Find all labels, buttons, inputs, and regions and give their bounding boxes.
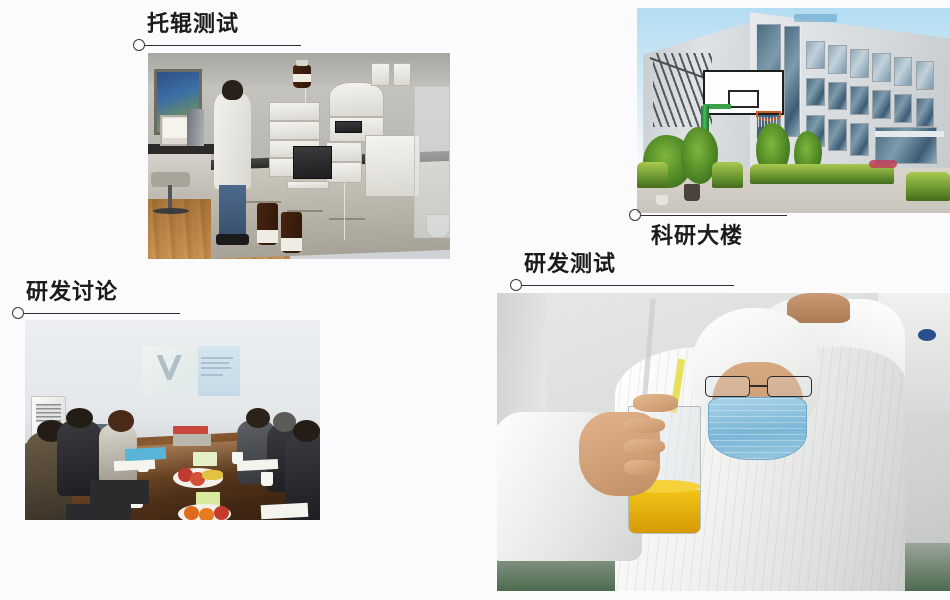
autosampler-unit <box>329 82 383 117</box>
window-bay <box>872 53 891 82</box>
window-bay <box>894 94 913 123</box>
paper-cup <box>261 472 273 486</box>
rule-line <box>641 215 787 216</box>
caption-research-building: 科研大楼 <box>629 208 787 250</box>
window-bay <box>850 86 869 115</box>
window-bay <box>828 82 847 111</box>
equipment-indicator <box>918 329 936 341</box>
mask-pleats <box>709 398 807 459</box>
finger <box>624 460 660 475</box>
instrument-screen <box>335 121 362 133</box>
beaker-liquid <box>629 490 699 533</box>
glasses-lens-right <box>767 376 812 397</box>
slide-text-line <box>201 357 232 359</box>
circle-marker-icon <box>510 279 522 291</box>
planter-pot <box>684 184 700 200</box>
projection-logo <box>157 355 182 380</box>
fruit-banana <box>202 470 223 480</box>
fruit-orange <box>184 506 199 520</box>
rule-line <box>522 285 734 286</box>
oven-unit <box>365 135 419 197</box>
thumb <box>633 394 678 412</box>
caption-research-building-rule <box>629 208 787 222</box>
monitor-screen <box>163 118 187 138</box>
building-scene <box>637 8 950 213</box>
document-folder <box>125 447 167 461</box>
window-bay <box>916 98 935 127</box>
bottle-cap <box>296 60 308 66</box>
laboratory-instruments-photo <box>148 53 450 259</box>
window-bay <box>806 41 825 70</box>
photo-collage: 托辊测试 <box>0 0 950 600</box>
ac-grille <box>36 404 61 422</box>
backboard-target-square <box>728 90 759 107</box>
technician-legs <box>219 185 246 239</box>
paper-sheet <box>371 63 389 86</box>
window-bay <box>872 90 891 119</box>
meeting-scene <box>25 320 320 520</box>
computer-tower <box>187 109 204 146</box>
keyboard <box>287 181 329 189</box>
flower-bed <box>869 160 897 168</box>
window-bay <box>916 61 935 90</box>
laptop-computer <box>90 480 149 504</box>
cleanroom-scene <box>497 293 950 591</box>
caption-roller-test: 托辊测试 <box>133 12 301 52</box>
bottle-label <box>281 238 302 250</box>
window-bay <box>850 123 869 156</box>
glasses-bridge <box>750 385 767 387</box>
caption-roller-test-label: 托辊测试 <box>147 12 301 38</box>
workstation-monitor <box>293 146 332 179</box>
instrument-module <box>269 121 320 140</box>
bottle-label <box>293 74 311 82</box>
hedge-row <box>637 162 668 189</box>
caption-rd-discussion: 研发讨论 <box>12 280 180 320</box>
lab-scene <box>148 53 450 259</box>
office-chair-post <box>168 185 172 210</box>
fruit-orange <box>199 508 214 520</box>
cleanroom-technician-photo <box>497 293 950 591</box>
projection-screen <box>143 346 240 396</box>
window-bay <box>784 26 800 137</box>
hedge-row <box>906 172 950 201</box>
tubing <box>344 183 345 241</box>
entrance-canopy <box>875 131 944 137</box>
caption-roller-test-rule <box>133 38 301 52</box>
circle-marker-icon <box>629 209 641 221</box>
glasses-lens-left <box>705 376 750 397</box>
attendee-head <box>108 410 135 432</box>
instrument-module <box>269 102 320 121</box>
planter-pot <box>656 195 669 205</box>
fruit-apple <box>214 506 229 520</box>
circle-marker-icon <box>133 39 145 51</box>
bottle-label <box>257 230 278 242</box>
rule-line <box>24 313 180 314</box>
laptop-computer <box>66 504 131 520</box>
caption-research-building-label: 科研大楼 <box>651 224 787 250</box>
safety-glasses <box>705 376 811 397</box>
circle-marker-icon <box>12 307 24 319</box>
paper-sheet <box>393 63 411 86</box>
building-signage <box>794 14 838 22</box>
tissue-box <box>193 452 217 466</box>
meeting-room-photo <box>25 320 320 520</box>
slide-text-line <box>201 374 222 376</box>
hedge-row <box>712 162 743 189</box>
slide-text-line <box>201 362 228 364</box>
technician-head <box>222 80 243 101</box>
caption-rd-discussion-rule <box>12 306 180 320</box>
projection-slide-panel <box>198 346 240 396</box>
finger <box>624 418 665 433</box>
caption-rd-discussion-label: 研发讨论 <box>26 280 180 306</box>
technician-labcoat <box>214 94 250 189</box>
rule-line <box>145 45 301 46</box>
window-bay <box>828 45 847 74</box>
office-chair-base <box>153 208 189 214</box>
face-mask <box>708 397 808 460</box>
window-bay <box>828 119 847 152</box>
attendee-head <box>246 408 270 428</box>
tubing <box>305 88 306 109</box>
window-bay <box>894 57 913 86</box>
desk-equipment <box>173 434 211 446</box>
research-building-photo <box>637 8 950 213</box>
window-bay <box>850 49 869 78</box>
technician-shoes <box>216 234 249 244</box>
slide-text-line <box>201 367 230 369</box>
caption-rd-testing-label: 研发测试 <box>524 252 734 278</box>
caption-rd-testing-rule <box>510 278 734 292</box>
attendee-head <box>66 408 93 428</box>
glassware <box>426 214 450 239</box>
technician-upper-hand <box>787 293 850 323</box>
cabinet-seam <box>329 218 365 220</box>
document-sheet <box>113 459 155 471</box>
facade-mullion <box>800 26 802 139</box>
crt-monitor <box>160 115 190 146</box>
window-bay <box>806 78 825 107</box>
finger <box>624 439 665 454</box>
caption-rd-testing: 研发测试 <box>510 252 734 292</box>
desk-item-box <box>173 426 208 434</box>
document-sheet <box>261 503 309 519</box>
attendee-head <box>293 420 320 442</box>
